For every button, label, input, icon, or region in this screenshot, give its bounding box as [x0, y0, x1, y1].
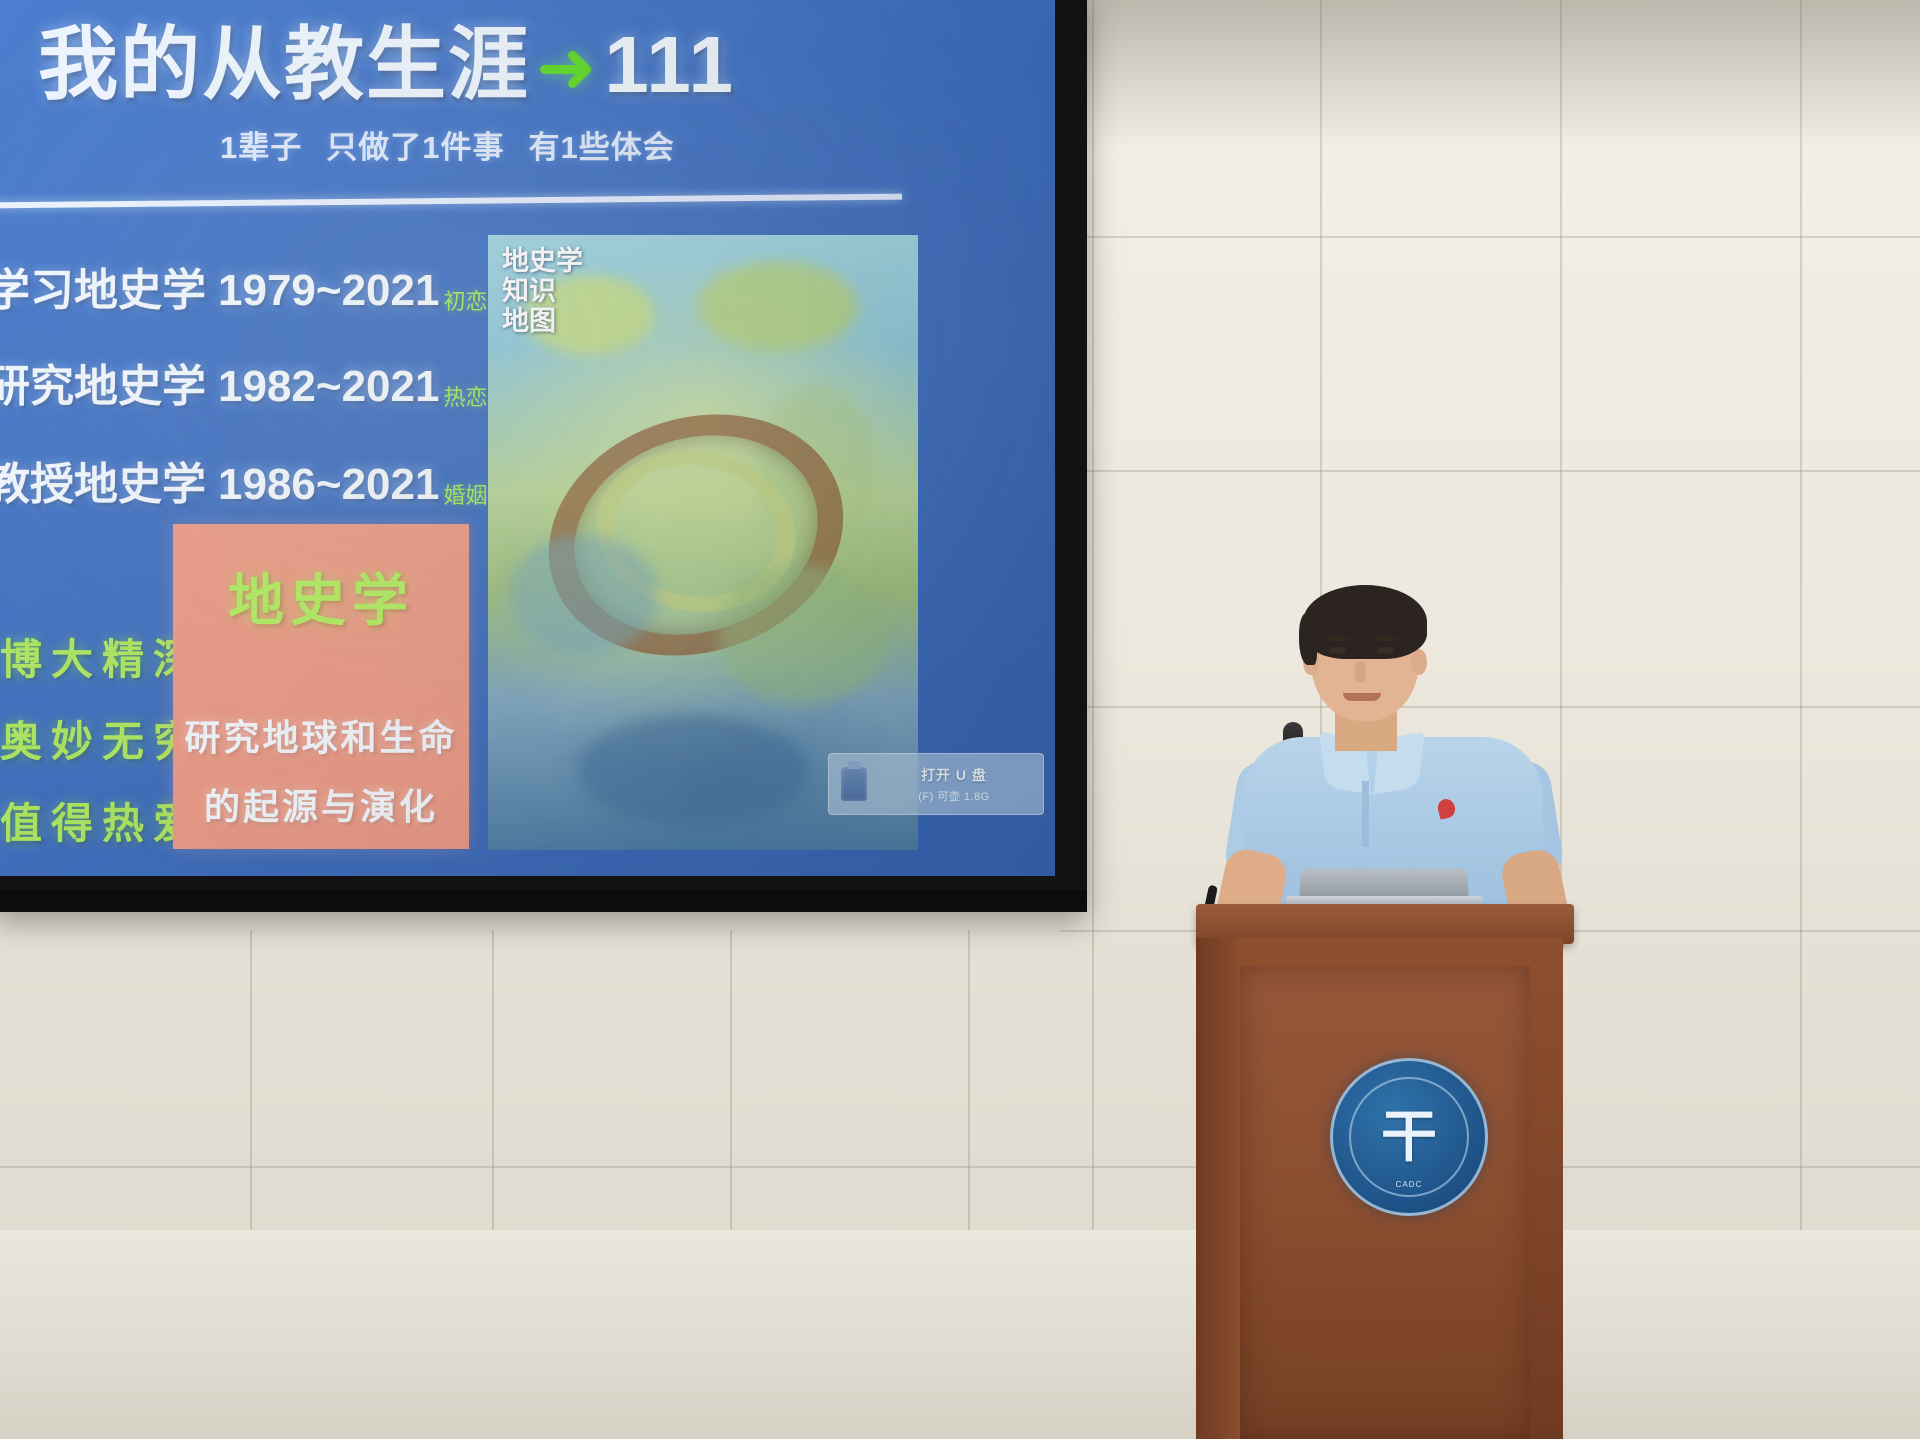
career-row-research-prefix: 研究 [0, 361, 74, 412]
career-row-teach-years: 1986~2021 [218, 460, 439, 509]
career-row-study-note: 初恋 [443, 290, 487, 315]
knowledge-map-label-line-3: 地图 [502, 307, 583, 337]
speaker-nose [1355, 661, 1366, 683]
definition-box-line-1: 研究地球和生命 [173, 709, 469, 761]
institution-emblem: 干 CADC [1330, 1058, 1488, 1216]
speaker-hair [1303, 585, 1427, 659]
career-row-study-subject: 地史学 [74, 265, 206, 316]
career-row-teach-prefix: 教授 [0, 459, 74, 510]
slide-title-text: 我的从教生涯 [38, 20, 530, 109]
knowledge-map-label-line-1: 地史学 [502, 247, 583, 277]
career-row-teach: 教授地史学1986~2021婚姻 [0, 448, 487, 512]
career-row-teach-subject: 地史学 [74, 459, 206, 510]
career-row-research-years: 1982~2021 [218, 362, 439, 411]
subtitle-part-1: 1辈子 [220, 130, 302, 165]
speaker-mouth [1343, 693, 1381, 701]
slide-subtitle: 1辈子只做了1件事有1些体会 [220, 122, 699, 167]
wall-baseboard [0, 1230, 1920, 1439]
speaker-person [1225, 585, 1575, 915]
usb-toast-subtitle: (F) 可壶 1.8G [918, 788, 990, 804]
arrow-right-icon: ➜ [536, 28, 598, 108]
emblem-character: 干 [1381, 1109, 1437, 1165]
career-row-research: 研究地史学1982~2021热恋 [0, 350, 487, 414]
knowledge-map-label: 地史学 知识 地图 [502, 247, 583, 338]
speaker-eye-left [1329, 647, 1346, 654]
career-row-study-years: 1979~2021 [218, 266, 439, 315]
slide-title-number: 111 [604, 20, 735, 109]
emblem-inner-ring: 干 CADC [1349, 1077, 1469, 1197]
subtitle-part-2: 只做了1件事 [326, 130, 504, 165]
career-row-study: 学习地史学1979~2021初恋 [0, 254, 487, 318]
projection-screen-frame: 我的从教生涯➜111 1辈子只做了1件事有1些体会 学习地史学1979~2021… [0, 0, 1087, 912]
projection-screen-surface: 我的从教生涯➜111 1辈子只做了1件事有1些体会 学习地史学1979~2021… [0, 0, 1055, 876]
speaker-shirt-placket [1362, 781, 1369, 847]
usb-drive-icon [841, 767, 867, 801]
slide-title: 我的从教生涯➜111 [38, 0, 798, 116]
definition-box-line-2: 的起源与演化 [173, 778, 469, 830]
subtitle-part-3: 有1些体会 [529, 130, 675, 165]
knowledge-map-label-line-2: 知识 [502, 277, 583, 307]
wall-shadow [1050, 0, 1920, 150]
usb-toast-title: 打开 U 盘 [921, 765, 987, 785]
career-row-teach-note: 婚姻 [443, 484, 487, 509]
presentation-slide: 我的从教生涯➜111 1辈子只做了1件事有1些体会 学习地史学1979~2021… [0, 0, 1055, 876]
career-row-research-subject: 地史学 [74, 361, 206, 412]
emblem-caption: CADC [1351, 1180, 1467, 1189]
speaker-ear-right [1411, 649, 1427, 675]
career-row-research-note: 热恋 [443, 386, 487, 411]
slide-divider-line [0, 194, 902, 209]
speaker-eye-right [1377, 647, 1394, 654]
speaker-brow-right [1374, 637, 1396, 641]
lecture-hall-scene: 我的从教生涯➜111 1辈子只做了1件事有1些体会 学习地史学1979~2021… [0, 0, 1920, 1439]
definition-box: 地史学 研究地球和生命 的起源与演化 [173, 524, 469, 849]
usb-autoplay-toast[interactable]: 打开 U 盘 (F) 可壶 1.8G [828, 753, 1044, 815]
definition-box-title: 地史学 [173, 556, 469, 637]
podium-left-edge [1196, 938, 1240, 1439]
career-row-study-prefix: 学习 [0, 265, 74, 316]
speaker-brow-left [1326, 637, 1348, 641]
